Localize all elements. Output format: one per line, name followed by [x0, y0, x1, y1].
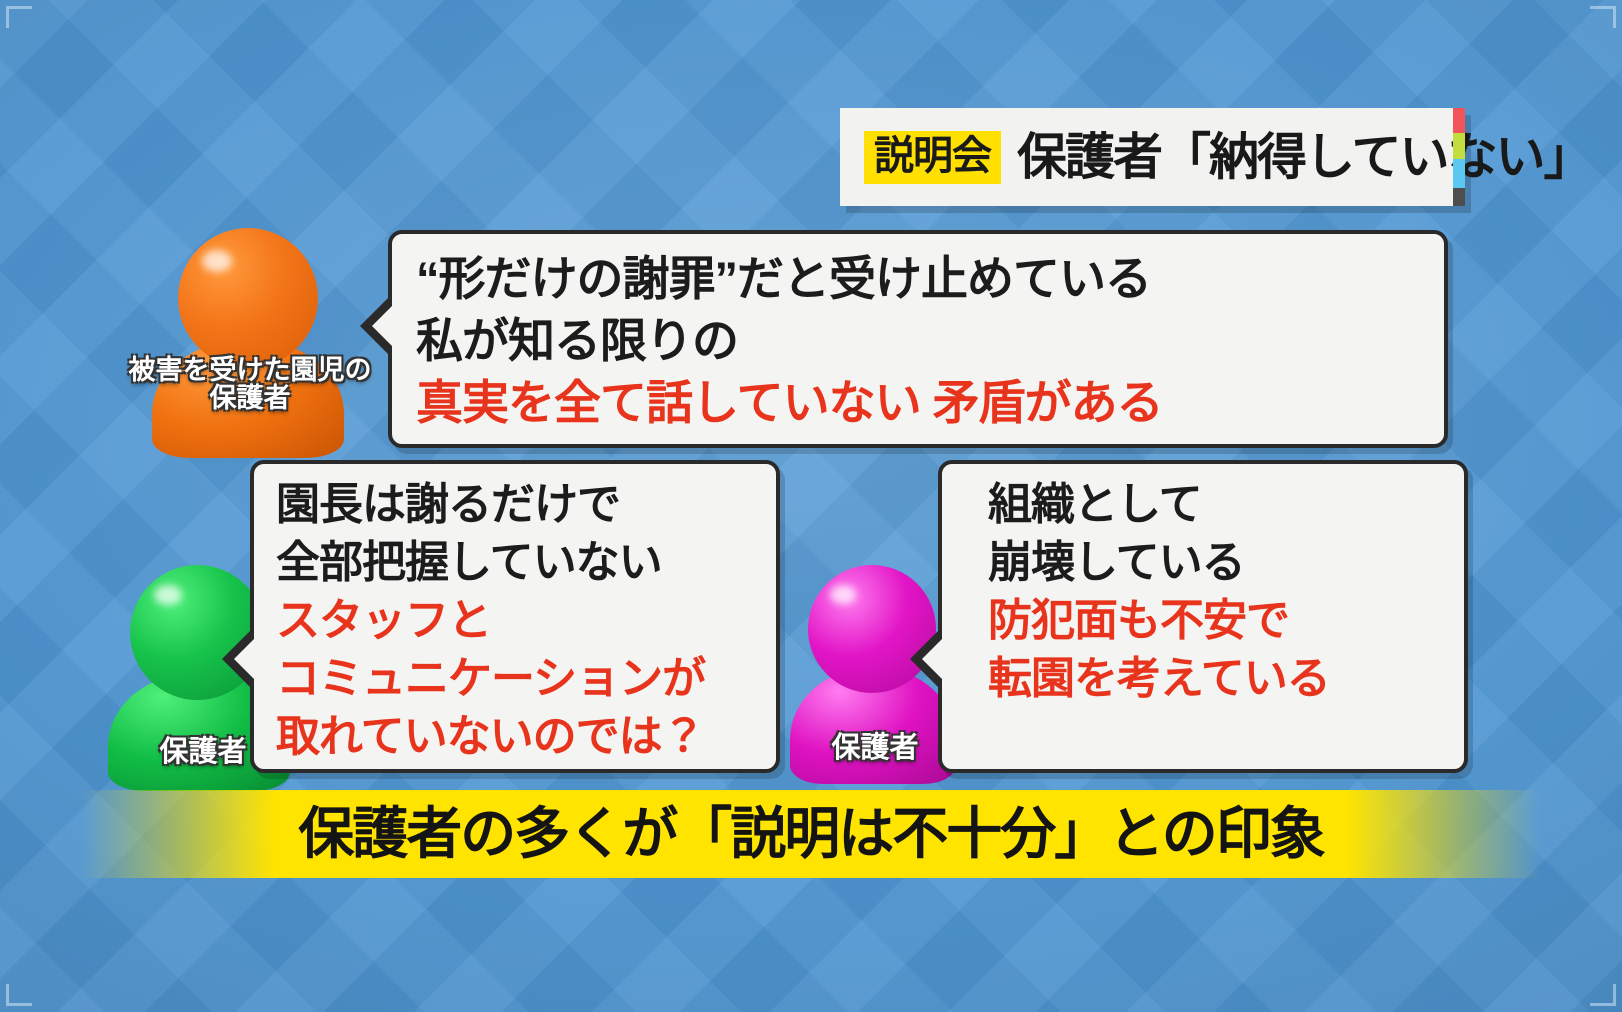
bubble-line: 組織として [988, 476, 1450, 534]
bubble-text-block: 園長は謝るだけで 全部把握していない スタッフと コミュニケーションが 取れてい… [254, 464, 776, 774]
corner-bracket-bottom-left [6, 980, 36, 1006]
bubble-text-block: 組織として 崩壊している 防犯面も不安で 転園を考えている [942, 464, 1464, 716]
bubble-line-highlight: コミュニケーションが [276, 650, 762, 708]
bubble-text-block: “形だけの謝罪”だと受け止めている 私が知る限りの 真実を全て話していない 矛盾… [392, 234, 1444, 444]
header-color-stripe [1453, 108, 1465, 206]
stripe-segment-green [1453, 133, 1465, 158]
bubble-line: “形だけの謝罪”だと受け止めている [416, 248, 1424, 310]
avatar-label-magenta: 保護者 [831, 733, 918, 763]
bubble-tail-fill [922, 637, 944, 681]
avatar-highlight [830, 585, 856, 604]
avatar-orange-parent: 被害を受けた園児の 保護者 [150, 228, 350, 428]
avatar-label-orange: 被害を受けた園児の 保護者 [129, 356, 372, 413]
avatar-label-line1: 被害を受けた園児の [129, 355, 372, 385]
header-badge: 説明会 [864, 131, 1001, 184]
avatar-label-line2: 保護者 [210, 383, 291, 413]
speech-bubble-orange: “形だけの謝罪”だと受け止めている 私が知る限りの 真実を全て話していない 矛盾… [388, 230, 1448, 448]
stripe-segment-gray [1453, 188, 1465, 206]
bubble-line: 全部把握していない [276, 534, 762, 592]
stripe-segment-blue [1453, 159, 1465, 188]
bubble-line-highlight: 真実を全て話していない 矛盾がある [416, 372, 1424, 434]
speech-bubble-green: 園長は謝るだけで 全部把握していない スタッフと コミュニケーションが 取れてい… [250, 460, 780, 773]
speech-bubble-magenta: 組織として 崩壊している 防犯面も不安で 転園を考えている [938, 460, 1468, 773]
avatar-highlight [154, 585, 182, 605]
corner-bracket-top-left [6, 6, 36, 32]
avatar-highlight [202, 250, 232, 272]
avatar-label-green: 保護者 [159, 737, 246, 767]
bubble-line: 私が知る限りの [416, 310, 1424, 372]
corner-bracket-bottom-right [1586, 980, 1616, 1006]
page-title: 保護者「納得していない」 [1017, 132, 1592, 182]
header-banner: 説明会 保護者「納得していない」 [840, 108, 1465, 206]
bubble-tail-fill [372, 304, 394, 348]
avatar-head [178, 228, 318, 368]
news-graphic-stage: 説明会 保護者「納得していない」 被害を受けた園児の 保護者 “形だけの謝罪”だ… [0, 0, 1622, 1012]
bubble-line: 園長は謝るだけで [276, 476, 762, 534]
bubble-line-highlight: 取れていないのでは？ [276, 708, 762, 766]
bubble-line: 崩壊している [988, 534, 1450, 592]
footer-summary-text: 保護者の多くが「説明は不十分」との印象 [298, 806, 1323, 862]
corner-bracket-top-right [1586, 6, 1616, 32]
bubble-line-highlight: 転園を考えている [988, 650, 1450, 708]
bubble-line-highlight: 防犯面も不安で [988, 592, 1450, 650]
bubble-tail-fill [234, 637, 256, 681]
bubble-line-highlight: スタッフと [276, 592, 762, 650]
footer-banner: 保護者の多くが「説明は不十分」との印象 [0, 790, 1622, 878]
stripe-segment-red [1453, 108, 1465, 133]
